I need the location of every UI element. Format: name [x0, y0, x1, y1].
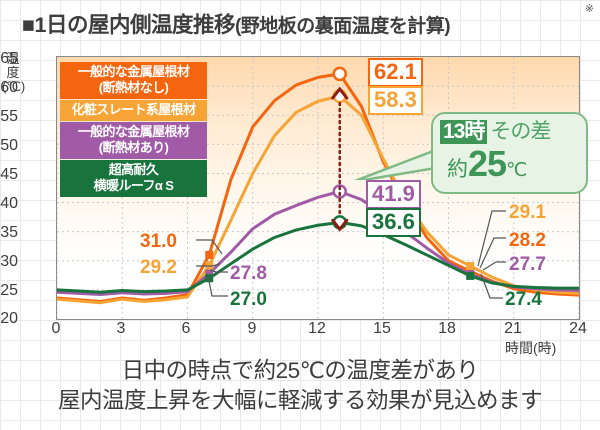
- callout-evening-28-2: 28.2: [509, 231, 546, 250]
- asterisk-note: ※: [585, 2, 594, 15]
- x-tick-9: 9: [232, 320, 272, 338]
- balloon-diff-label: その差: [490, 120, 550, 144]
- legend-label-line1: 一般的な金属屋根材: [62, 124, 205, 140]
- x-tick-18: 18: [427, 320, 467, 338]
- callout-evening-29-1: 29.1: [509, 203, 546, 222]
- balloon-unit: ℃: [506, 160, 527, 181]
- balloon-row-top: 13時その差: [440, 120, 550, 144]
- x-tick-0: 0: [36, 320, 76, 338]
- y-tick-35: 35: [0, 224, 18, 242]
- balloon-tail: [352, 140, 442, 180]
- callout-morning-27-8: 27.8: [230, 264, 267, 283]
- legend-item-slate[interactable]: 化粧スレート系屋根材: [60, 100, 207, 121]
- legend-label-line1: 化粧スレート系屋根材: [62, 102, 205, 118]
- x-tick-15: 15: [362, 320, 402, 338]
- difference-balloon: 13時その差 約25℃: [431, 112, 588, 194]
- difference-arrow: [333, 89, 347, 229]
- y-tick-25: 25: [0, 282, 18, 300]
- legend-label-line2: (断熱材なし): [62, 80, 205, 96]
- legend-label-line1: 一般的な金属屋根材: [62, 64, 205, 80]
- title-parenthetical: (野地板の裏面温度を計算): [235, 16, 450, 37]
- legend-label-line1: 超高耐久: [62, 162, 205, 178]
- x-tick-21: 21: [493, 320, 533, 338]
- title-main: ■1日の屋内側温度推移: [22, 13, 235, 37]
- x-tick-24: 24: [558, 320, 598, 338]
- legend-label-line2: (断熱材あり): [62, 140, 205, 156]
- balloon-row-bottom: 約25℃: [447, 147, 527, 188]
- y-tick-45: 45: [0, 166, 18, 184]
- y-tick-40: 40: [0, 195, 18, 213]
- legend-item-yokodan-roof[interactable]: 超高耐久 横暖ルーフα S: [60, 160, 207, 197]
- legend-item-metal-with-insulation[interactable]: 一般的な金属屋根材 (断熱材あり): [60, 122, 207, 159]
- x-axis-label: 時間(時): [505, 338, 556, 358]
- chart-legend: 一般的な金属屋根材 (断熱材なし) 化粧スレート系屋根材 一般的な金属屋根材 (…: [60, 62, 207, 198]
- legend-item-metal-no-insulation[interactable]: 一般的な金属屋根材 (断熱材なし): [60, 62, 207, 99]
- callout-morning-27-0: 27.0: [230, 290, 267, 309]
- y-tick-30: 30: [0, 253, 18, 271]
- callout-evening-27-7: 27.7: [509, 255, 546, 274]
- balloon-time-chip: 13時: [440, 120, 487, 144]
- caption-line-2: 屋内温度上昇を大幅に軽減する効果が見込めます: [0, 386, 600, 416]
- page-title: ■1日の屋内側温度推移(野地板の裏面温度を計算): [22, 8, 450, 39]
- y-tick-55: 55: [0, 108, 18, 126]
- callout-morning-31-0: 31.0: [140, 232, 177, 251]
- balloon-value: 25: [468, 143, 506, 184]
- bottom-caption: 日中の時点で約25℃の温度差があり 屋内温度上昇を大幅に軽減する効果が見込めます: [0, 356, 600, 416]
- x-tick-3: 3: [101, 320, 141, 338]
- callout-peak-41-9: 41.9: [366, 180, 421, 209]
- y-tick-65: 65: [0, 50, 18, 68]
- callout-morning-29-2: 29.2: [140, 258, 177, 277]
- callout-peak-62-1: 62.1: [368, 58, 423, 87]
- callout-evening-27-4: 27.4: [505, 290, 542, 309]
- y-tick-60: 60: [0, 79, 18, 97]
- infographic-root: ■1日の屋内側温度推移(野地板の裏面温度を計算) ※ 温度(℃) 65 60 5…: [0, 0, 600, 430]
- caption-line-1: 日中の時点で約25℃の温度差があり: [0, 356, 600, 386]
- y-tick-20: 20: [0, 310, 18, 328]
- x-tick-6: 6: [166, 320, 206, 338]
- callout-peak-36-6: 36.6: [366, 208, 421, 237]
- x-tick-12: 12: [297, 320, 337, 338]
- y-tick-50: 50: [0, 137, 18, 155]
- legend-label-line2: 横暖ルーフα S: [62, 178, 205, 194]
- balloon-approx: 約: [447, 158, 468, 181]
- callout-peak-58-3: 58.3: [368, 86, 423, 115]
